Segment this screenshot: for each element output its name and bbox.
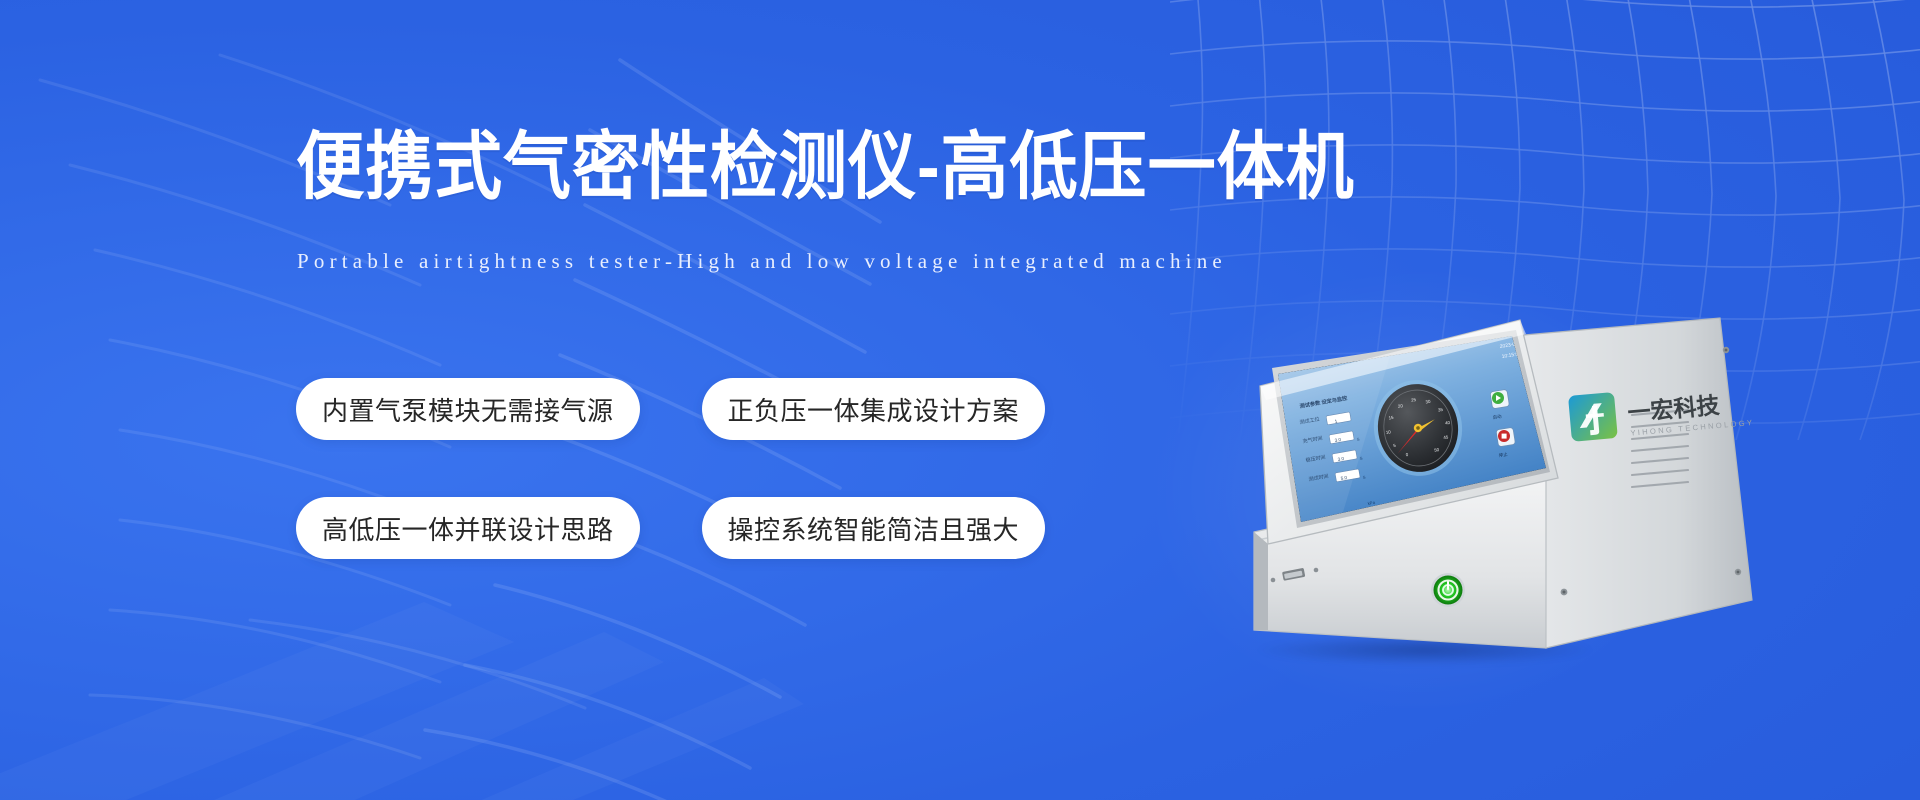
banner-content: 便携式气密性检测仪-高低压一体机 Portable airtightness t…	[0, 0, 1920, 800]
feature-pill-smart-control[interactable]: 操控系统智能简洁且强大	[702, 497, 1046, 559]
feature-pill-integrated-design[interactable]: 正负压一体集成设计方案	[702, 378, 1046, 440]
feature-pill-parallel-design[interactable]: 高低压一体并联设计思路	[296, 497, 640, 559]
device-left-edge	[1254, 532, 1268, 630]
device-right-panel: 一宏科技 YIHONG TECHNOLOGY	[1512, 318, 1755, 648]
feature-pill-row-2: 高低压一体并联设计思路 操控系统智能简洁且强大	[296, 497, 1116, 559]
power-button[interactable]	[1431, 573, 1465, 607]
feature-pill-built-in-pump[interactable]: 内置气泵模块无需接气源	[296, 378, 640, 440]
product-image: 一宏科技 YIHONG TECHNOLOGY	[1160, 300, 1880, 720]
screen-menu-item-0: 主菜单	[1358, 344, 1373, 353]
page-title: 便携式气密性检测仪-高低压一体机	[296, 128, 1355, 206]
feature-pill-list: 内置气泵模块无需接气源 正负压一体集成设计方案 高低压一体并联设计思路 操控系统…	[296, 378, 1116, 616]
device-illustration: 一宏科技 YIHONG TECHNOLOGY	[1160, 300, 1880, 720]
product-banner: 便携式气密性检测仪-高低压一体机 Portable airtightness t…	[0, 0, 1920, 800]
feature-pill-row-1: 内置气泵模块无需接气源 正负压一体集成设计方案	[296, 378, 1116, 440]
screen-menu-item-1: 参数设置	[1386, 338, 1405, 348]
page-subtitle: Portable airtightness tester-High and lo…	[297, 249, 1227, 274]
